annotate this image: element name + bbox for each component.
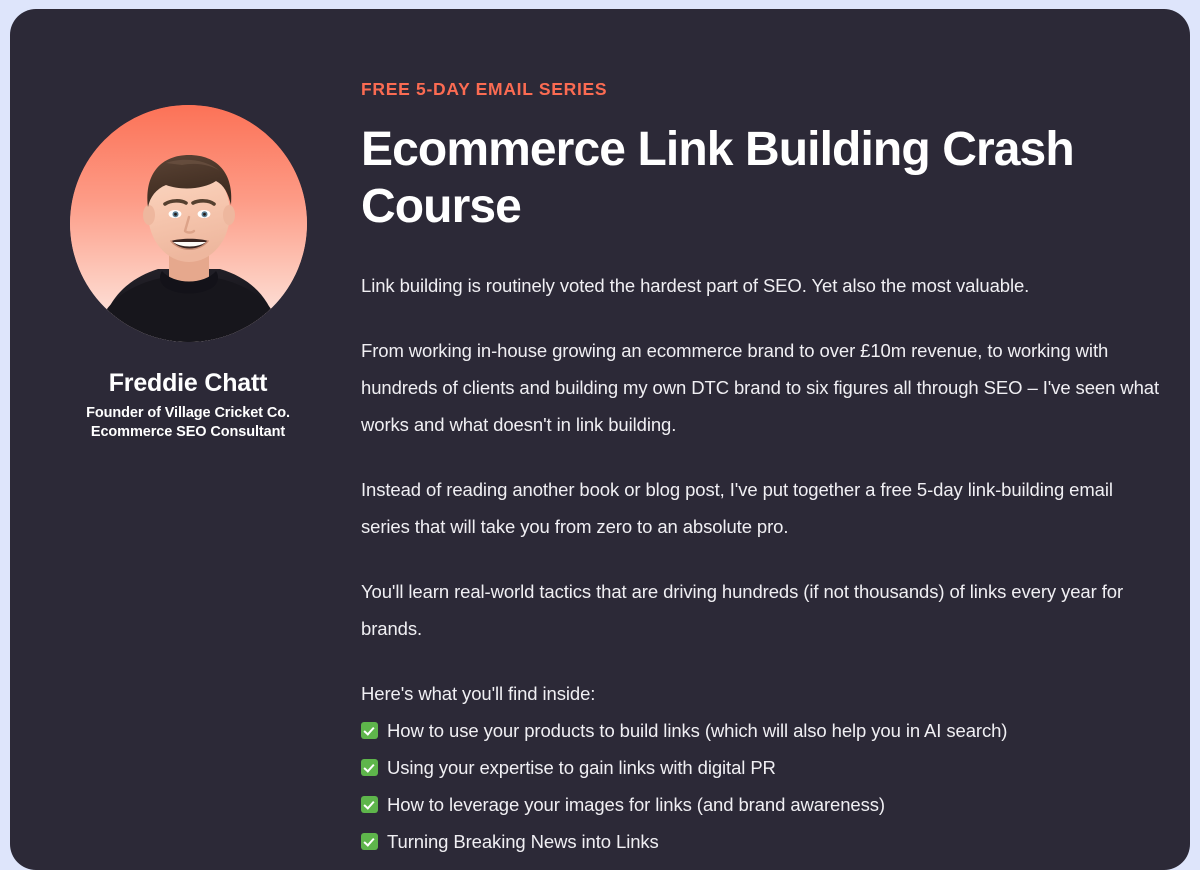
content-column: FREE 5-DAY EMAIL SERIES Ecommerce Link B… <box>361 79 1161 870</box>
avatar <box>70 105 307 342</box>
body-copy: Link building is routinely voted the har… <box>361 267 1161 870</box>
author-role: Founder of Village Cricket Co. Ecommerce… <box>62 404 314 443</box>
list-item-label: Turn Your Brand Mentions Into Links In 5… <box>387 860 815 870</box>
author-role-line-2: Ecommerce SEO Consultant <box>62 423 314 442</box>
paragraph: You'll learn real-world tactics that are… <box>361 573 1161 647</box>
check-icon <box>361 833 378 850</box>
check-icon <box>361 759 378 776</box>
author-role-line-1: Founder of Village Cricket Co. <box>62 404 314 423</box>
page-title: Ecommerce Link Building Crash Course <box>361 122 1151 235</box>
list-item-label: Turning Breaking News into Links <box>387 823 659 860</box>
check-icon <box>361 722 378 739</box>
promo-card: Freddie Chatt Founder of Village Cricket… <box>10 9 1190 870</box>
list-item: Turning Breaking News into Links <box>361 823 1161 860</box>
portrait-photo-icon <box>70 105 307 342</box>
list-item-label: Using your expertise to gain links with … <box>387 749 776 786</box>
list-item-label: How to use your products to build links … <box>387 712 1007 749</box>
checklist: How to use your products to build links … <box>361 712 1161 870</box>
list-item-label: How to leverage your images for links (a… <box>387 786 885 823</box>
list-item: Turn Your Brand Mentions Into Links In 5… <box>361 860 1161 870</box>
paragraph: Link building is routinely voted the har… <box>361 267 1161 304</box>
check-icon <box>361 796 378 813</box>
author-column: Freddie Chatt Founder of Village Cricket… <box>62 105 314 443</box>
list-item: Using your expertise to gain links with … <box>361 749 1161 786</box>
paragraph: Instead of reading another book or blog … <box>361 471 1161 545</box>
eyebrow-label: FREE 5-DAY EMAIL SERIES <box>361 79 1161 100</box>
list-item: How to use your products to build links … <box>361 712 1161 749</box>
list-item: How to leverage your images for links (a… <box>361 786 1161 823</box>
author-name: Freddie Chatt <box>62 368 314 398</box>
checklist-intro: Here's what you'll find inside: <box>361 675 1161 712</box>
paragraph: From working in-house growing an ecommer… <box>361 332 1161 443</box>
